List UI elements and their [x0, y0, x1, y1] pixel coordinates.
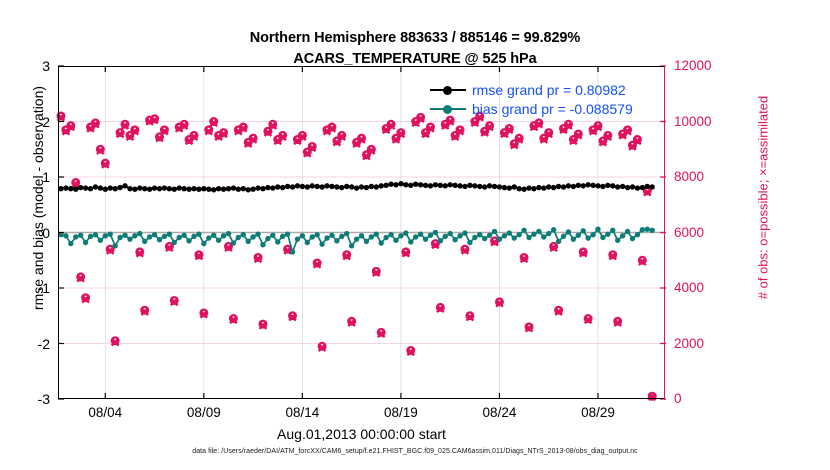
- bottom-tick-label: 08/24: [459, 406, 539, 420]
- right-tick-label: 4000: [674, 281, 734, 295]
- legend-swatch-bias-icon: [428, 102, 468, 116]
- right-tick-label: 0: [674, 392, 734, 406]
- left-tick-label: -3: [8, 392, 50, 406]
- bottom-tick-label: 08/29: [558, 406, 638, 420]
- figure-canvas: Northern Hemisphere 883633 / 885146 = 99…: [0, 0, 830, 470]
- bottom-axis-label: Aug.01,2013 00:00:00 start: [58, 426, 665, 442]
- right-axis-spine: [664, 66, 665, 400]
- bottom-tick-label: 08/04: [65, 406, 145, 420]
- legend-label-bias: bias grand pr = -0.088579: [472, 101, 633, 117]
- legend-item-bias[interactable]: bias grand pr = -0.088579: [428, 99, 633, 118]
- right-axis-label: # of obs: o=possible; ×=assimilated: [756, 38, 771, 358]
- legend-item-rmse[interactable]: rmse grand pr = 0.80982: [428, 80, 633, 99]
- legend-label-rmse: rmse grand pr = 0.80982: [472, 82, 626, 98]
- right-tick-label: 8000: [674, 170, 734, 184]
- chart-legend: rmse grand pr = 0.80982 bias grand pr = …: [428, 80, 633, 118]
- bottom-tick-label: 08/19: [361, 406, 441, 420]
- legend-swatch-rmse-icon: [428, 83, 468, 97]
- right-tick-label: 2000: [674, 337, 734, 351]
- bottom-tick-label: 08/14: [262, 406, 342, 420]
- data-file-footer: data file: /Users/raeder/DAI/ATM_forcXX/…: [0, 448, 830, 455]
- right-tick-label: 10000: [674, 115, 734, 129]
- bottom-tick-label: 08/09: [164, 406, 244, 420]
- right-tick-label: 12000: [674, 59, 734, 73]
- left-axis-label: rmse and bias (model - observation): [30, 38, 46, 358]
- right-tick-label: 6000: [674, 226, 734, 240]
